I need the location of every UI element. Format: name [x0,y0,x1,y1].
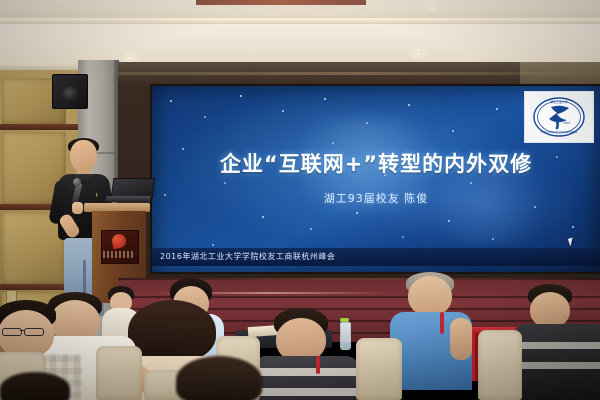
star-speck [170,100,172,102]
audience-shirt-stripe [252,388,360,396]
eyeglasses-icon [24,328,44,336]
projection-screen: 企业“互联网+”转型的内外双修 湖工93届校友 陈俊 湖北工业大学 INSTIT… [152,86,600,272]
conference-chair[interactable] [96,346,142,400]
svg-text:湖北工业大学: 湖北工业大学 [550,99,568,104]
svg-text:INSTITUTE OF ENGINEERING: INSTITUTE OF ENGINEERING [541,130,578,134]
conference-chair[interactable] [356,338,402,400]
microphone-head-icon [73,178,81,186]
star-speck [212,244,214,246]
slide-bottom-banner: 2016年湖北工业大学学院校友工商联杭州峰会 [152,248,600,266]
audience-arm [450,318,472,360]
star-speck [470,182,472,184]
star-speck [224,182,226,184]
star-speck [324,98,326,100]
star-speck [262,216,264,218]
conference-photo: 企业“互联网+”转型的内外双修 湖工93届校友 陈俊 湖北工业大学 INSTIT… [0,0,600,400]
presenter-head [70,140,97,172]
water-bottle [340,322,351,350]
ceiling-red-accent [196,0,366,5]
star-speck [332,142,334,144]
speaker-cone-icon [62,87,79,102]
audience-shirt-stripe [512,342,600,349]
slide-title: 企业“互联网+”转型的内外双修 [152,148,600,178]
eyeglasses-icon [2,328,22,336]
star-speck [204,116,206,118]
downlight-icon [126,56,135,60]
wall-panel-divider [0,124,82,130]
star-speck [240,95,242,97]
downlight-icon [414,52,423,56]
star-speck [534,206,536,208]
presenter-hand [72,202,83,214]
star-speck [402,236,404,238]
star-speck [492,238,494,240]
star-speck [366,122,368,124]
star-speck [282,110,284,112]
name-lanyard [440,312,444,334]
laptop-keyboard [105,196,151,202]
star-speck [310,228,312,230]
audience-head [530,292,570,328]
conference-chair[interactable] [478,330,522,400]
lectern-plaque-text [103,251,135,258]
logo-abbrev: HBUT [564,122,571,125]
star-speck [408,104,410,106]
audience-shirt-stripe [252,368,360,376]
star-speck [496,108,498,110]
star-speck [572,226,574,228]
name-lanyard [316,356,320,374]
eyeglasses-bridge [20,330,25,331]
star-speck [448,220,450,222]
audience-shirt-stripe [512,362,600,369]
audience-hair [176,356,262,400]
star-speck [452,130,454,132]
slide-banner-text: 2016年湖北工业大学学院校友工商联杭州峰会 [160,251,335,262]
institute-emblem-logo: 湖北工业大学 INSTITUTE OF ENGINEERING HBUT [524,91,594,143]
wall-speaker-icon [52,74,88,109]
slide-subtitle: 湖工93届校友 陈俊 [152,190,600,206]
audience-head [408,276,452,316]
downlight-icon [427,4,436,8]
mouse-cursor-icon [568,237,575,246]
star-speck [356,212,358,214]
audience-hair [0,372,70,400]
